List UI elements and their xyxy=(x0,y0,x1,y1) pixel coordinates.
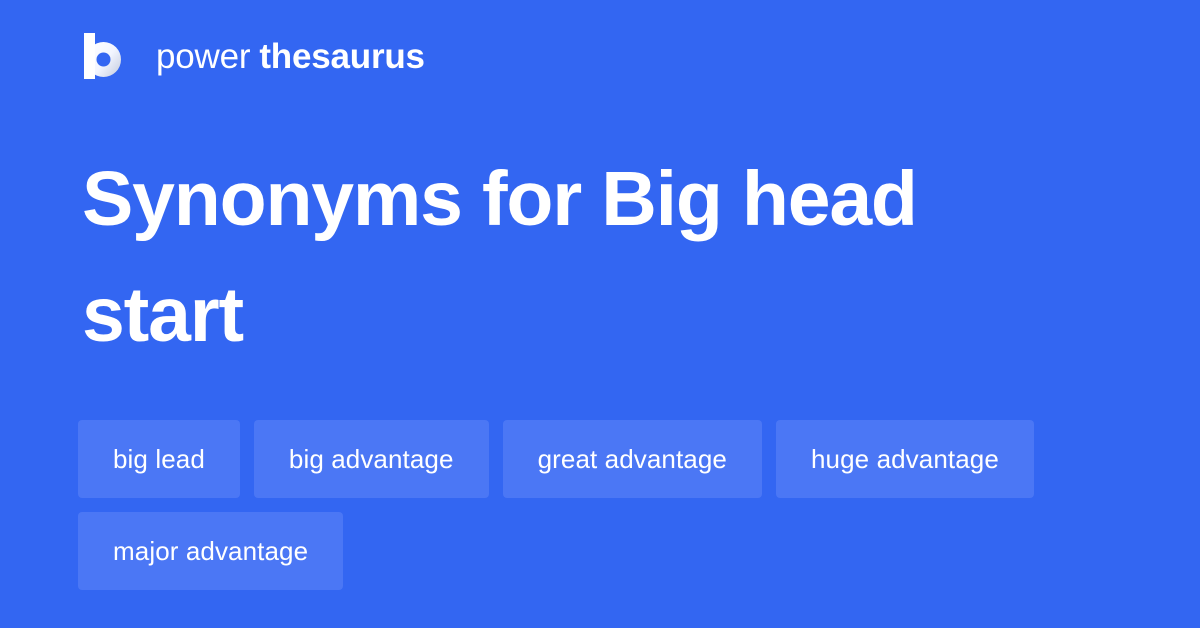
power-thesaurus-b-logo-icon xyxy=(82,31,122,81)
synonym-chip-list: big lead big advantage great advantage h… xyxy=(78,420,1128,590)
page-canvas: power thesaurus Synonyms for Big head st… xyxy=(0,0,1200,628)
page-title-line-1: Synonyms for Big head xyxy=(82,156,917,242)
synonym-chip[interactable]: big lead xyxy=(78,420,240,498)
page-title-line-2: start xyxy=(82,272,243,358)
synonym-chip[interactable]: great advantage xyxy=(503,420,762,498)
synonym-chip[interactable]: big advantage xyxy=(254,420,489,498)
brand-word-power: power xyxy=(156,39,250,74)
page-title: Synonyms for Big head start xyxy=(82,141,1082,373)
brand-wordmark: power thesaurus xyxy=(156,39,425,74)
synonym-chip[interactable]: major advantage xyxy=(78,512,343,590)
brand-logo[interactable]: power thesaurus xyxy=(82,30,425,82)
synonym-chip[interactable]: huge advantage xyxy=(776,420,1034,498)
brand-word-thesaurus: thesaurus xyxy=(259,39,424,74)
